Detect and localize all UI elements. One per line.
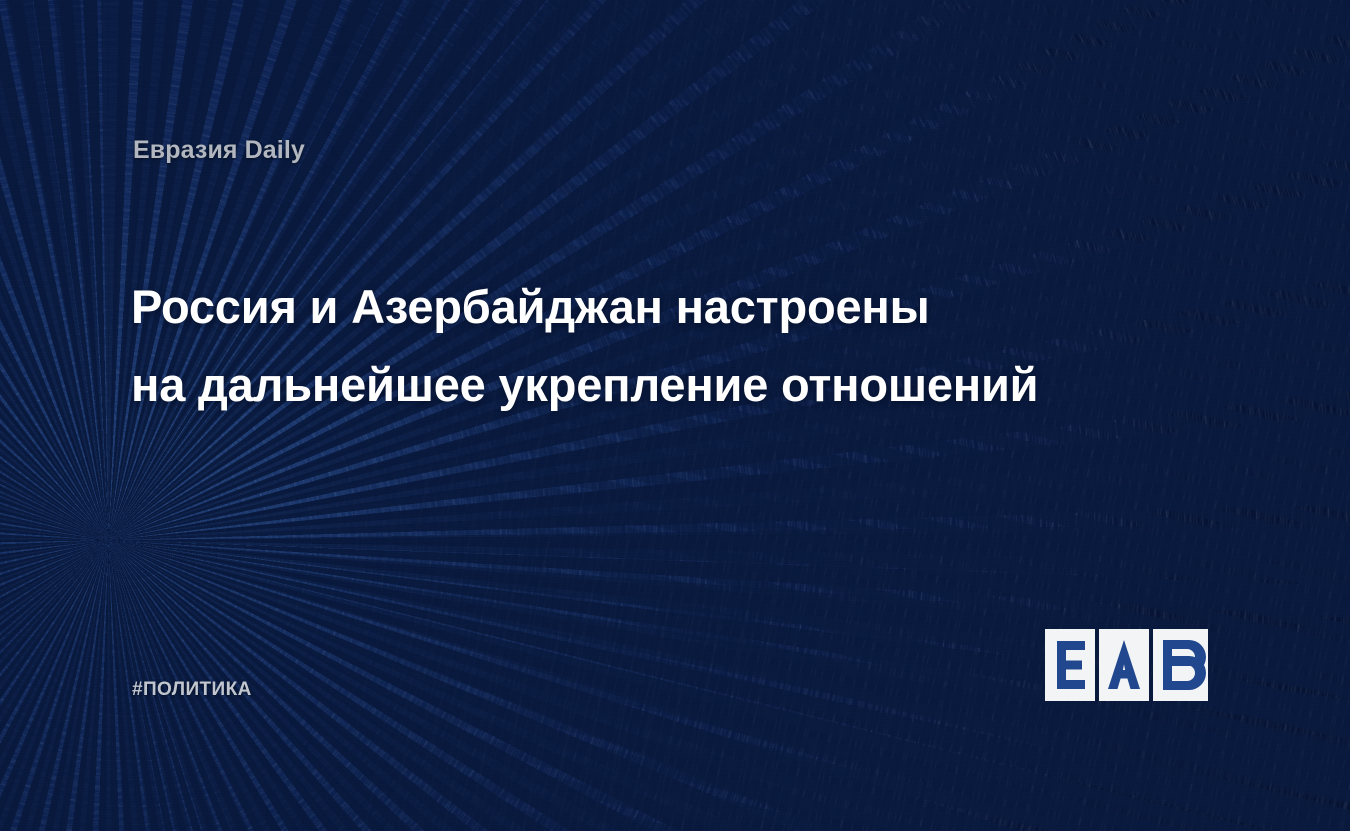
- category-tag[interactable]: #ПОЛИТИКА: [132, 679, 252, 701]
- logo-tile-a: [1099, 629, 1149, 701]
- eadaily-logo[interactable]: [1045, 629, 1220, 701]
- headline-line-1: Россия и Азербайджан настроены: [131, 268, 1201, 346]
- logo-tile-e: [1045, 629, 1095, 701]
- brand-title: Евразия Daily: [133, 136, 305, 165]
- logo-tile-d-bottom-half: [1153, 666, 1208, 701]
- headline-line-2: на дальнейшее укрепление отношений: [131, 346, 1201, 424]
- page-title: Россия и Азербайджан настроены на дальне…: [131, 268, 1201, 424]
- logo-tile-d: [1153, 629, 1208, 701]
- social-share-card: Евразия Daily Россия и Азербайджан настр…: [0, 0, 1350, 831]
- card-content: Евразия Daily Россия и Азербайджан настр…: [0, 0, 1350, 831]
